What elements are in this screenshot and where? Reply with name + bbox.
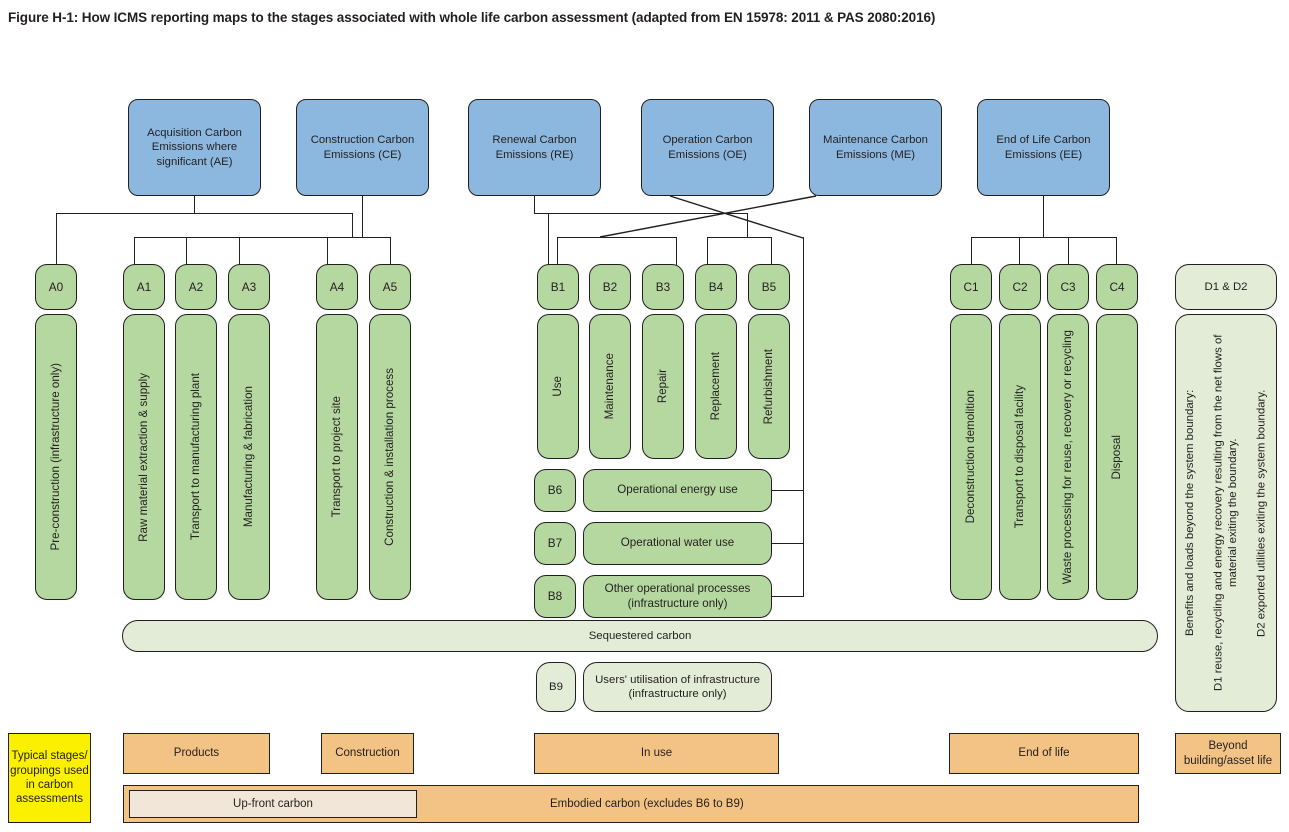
module-desc-b8[interactable]: Other operational processes (infrastruct… bbox=[583, 575, 772, 618]
top-box-me[interactable]: Maintenance Carbon Emissions (ME) bbox=[809, 99, 942, 196]
module-desc-b8-label: Other operational processes (infrastruct… bbox=[605, 582, 751, 611]
module-desc-b7-label: Operational water use bbox=[621, 536, 734, 550]
module-chip-b9-label: B9 bbox=[549, 680, 563, 694]
module-desc-a2-label: Transport to manufacturing plant bbox=[189, 373, 203, 540]
module-desc-c1[interactable]: Deconstruction demolition bbox=[950, 314, 992, 600]
upfront-carbon-label: Up-front carbon bbox=[233, 797, 313, 811]
module-desc-d-label: Benefits and loads beyond the system bou… bbox=[1183, 315, 1269, 711]
module-desc-a4[interactable]: Transport to project site bbox=[316, 314, 358, 600]
module-chip-b8[interactable]: B8 bbox=[534, 575, 576, 618]
module-desc-a1-label: Raw material extraction & supply bbox=[137, 373, 151, 542]
module-desc-c2[interactable]: Transport to disposal facility bbox=[999, 314, 1041, 600]
module-chip-b6[interactable]: B6 bbox=[534, 469, 576, 512]
stage-in-use[interactable]: In use bbox=[534, 733, 779, 774]
connector-to-b2 bbox=[557, 237, 558, 265]
module-desc-a4-label: Transport to project site bbox=[330, 396, 344, 517]
module-chip-a3[interactable]: A3 bbox=[228, 264, 270, 310]
stage-construction-label: Construction bbox=[335, 746, 400, 760]
module-desc-d[interactable]: Benefits and loads beyond the system bou… bbox=[1175, 314, 1277, 712]
top-box-ce-label: Construction Carbon Emissions (CE) bbox=[303, 133, 422, 161]
module-chip-a1-label: A1 bbox=[137, 280, 151, 295]
module-desc-b5-label: Refurbishment bbox=[762, 349, 776, 424]
module-chip-a4[interactable]: A4 bbox=[316, 264, 358, 310]
module-desc-c3[interactable]: Waste processing for reuse, recovery or … bbox=[1047, 314, 1089, 600]
module-chip-c1[interactable]: C1 bbox=[950, 264, 992, 310]
module-desc-b4[interactable]: Replacement bbox=[695, 314, 737, 459]
top-box-ae-label: Acquisition Carbon Emissions where signi… bbox=[135, 126, 254, 168]
connector-to-c1 bbox=[971, 237, 972, 265]
module-desc-c4[interactable]: Disposal bbox=[1096, 314, 1138, 600]
module-chip-b8-label: B8 bbox=[548, 589, 562, 604]
connector-to-a1 bbox=[134, 237, 135, 265]
connector-re-bus-drop bbox=[747, 213, 748, 238]
module-desc-b9[interactable]: Users' utilisation of infrastructure (in… bbox=[583, 662, 772, 712]
figure-canvas: Figure H-1: How ICMS reporting maps to t… bbox=[0, 0, 1289, 832]
module-chip-a0[interactable]: A0 bbox=[35, 264, 77, 310]
module-chip-c1-label: C1 bbox=[963, 280, 978, 295]
module-chip-c4[interactable]: C4 bbox=[1096, 264, 1138, 310]
module-chip-c3-label: C3 bbox=[1060, 280, 1075, 295]
module-desc-a3[interactable]: Manufacturing & fabrication bbox=[228, 314, 270, 600]
stage-end-of-life[interactable]: End of life bbox=[949, 733, 1139, 774]
module-desc-b6-label: Operational energy use bbox=[617, 483, 738, 497]
connector-re-to-b1 bbox=[548, 213, 549, 265]
top-box-ce[interactable]: Construction Carbon Emissions (CE) bbox=[296, 99, 429, 196]
module-chip-b6-label: B6 bbox=[548, 483, 562, 498]
connector-rail-to-b6 bbox=[772, 490, 804, 491]
connector-to-b4 bbox=[707, 237, 708, 265]
top-box-re-label: Renewal Carbon Emissions (RE) bbox=[475, 133, 594, 161]
module-desc-b2-label: Maintenance bbox=[603, 353, 617, 419]
bottom-legend-box: Typical stages/ groupings used in carbon… bbox=[8, 733, 91, 823]
module-chip-c2[interactable]: C2 bbox=[999, 264, 1041, 310]
top-box-oe-label: Operation Carbon Emissions (OE) bbox=[648, 133, 767, 161]
module-desc-a0[interactable]: Pre-construction (infrastructure only) bbox=[35, 314, 77, 600]
module-chip-b5-label: B5 bbox=[762, 280, 776, 295]
module-chip-c3[interactable]: C3 bbox=[1047, 264, 1089, 310]
connector-to-c3 bbox=[1068, 237, 1069, 265]
module-desc-b9-label: Users' utilisation of infrastructure (in… bbox=[595, 673, 760, 702]
upfront-carbon-bar[interactable]: Up-front carbon bbox=[129, 790, 417, 818]
connector-b45-bus bbox=[707, 237, 772, 238]
connector-ae-bus-drop bbox=[352, 213, 353, 238]
stage-beyond-building-life-label: Beyond building/asset life bbox=[1184, 739, 1272, 768]
module-chip-b7[interactable]: B7 bbox=[534, 522, 576, 565]
sequestered-carbon-label: Sequestered carbon bbox=[589, 629, 692, 643]
module-desc-a0-label: Pre-construction (infrastructure only) bbox=[49, 363, 63, 551]
connector-re-trunk bbox=[534, 196, 535, 214]
connector-b23-bus bbox=[557, 237, 677, 238]
module-desc-a5[interactable]: Construction & installation process bbox=[369, 314, 411, 600]
stage-in-use-label: In use bbox=[641, 746, 672, 760]
module-desc-b5[interactable]: Refurbishment bbox=[748, 314, 790, 459]
connector-ae-bus bbox=[56, 213, 353, 214]
module-desc-b7[interactable]: Operational water use bbox=[583, 522, 772, 565]
module-desc-b1-label: Use bbox=[551, 376, 565, 397]
bottom-legend-label: Typical stages/ groupings used in carbon… bbox=[10, 749, 89, 807]
connector-to-a4 bbox=[327, 237, 328, 265]
module-chip-a3-label: A3 bbox=[242, 280, 256, 295]
module-desc-c3-label: Waste processing for reuse, recovery or … bbox=[1061, 330, 1075, 584]
module-chip-b1[interactable]: B1 bbox=[537, 264, 579, 310]
module-desc-c2-label: Transport to disposal facility bbox=[1013, 385, 1027, 528]
embodied-carbon-label: Embodied carbon (excludes B6 to B9) bbox=[550, 797, 744, 811]
module-chip-a2[interactable]: A2 bbox=[175, 264, 217, 310]
module-chip-b3[interactable]: B3 bbox=[642, 264, 684, 310]
sequestered-carbon-bar[interactable]: Sequestered carbon bbox=[122, 620, 1158, 652]
stage-construction[interactable]: Construction bbox=[321, 733, 414, 774]
connector-to-b5 bbox=[771, 237, 772, 265]
module-chip-a4-label: A4 bbox=[330, 280, 344, 295]
module-chip-b4-label: B4 bbox=[709, 280, 723, 295]
module-chip-b5[interactable]: B5 bbox=[748, 264, 790, 310]
connector-to-b3 bbox=[676, 237, 677, 265]
connector-ce-bus bbox=[327, 237, 391, 238]
module-chip-b9[interactable]: B9 bbox=[536, 662, 576, 712]
top-box-oe[interactable]: Operation Carbon Emissions (OE) bbox=[641, 99, 774, 196]
connector-to-c4 bbox=[1116, 237, 1117, 265]
module-chip-c2-label: C2 bbox=[1012, 280, 1027, 295]
module-chip-a5-label: A5 bbox=[383, 280, 397, 295]
module-desc-a2[interactable]: Transport to manufacturing plant bbox=[175, 314, 217, 600]
stage-end-of-life-label: End of life bbox=[1018, 746, 1069, 760]
figure-title: Figure H-1: How ICMS reporting maps to t… bbox=[8, 10, 1278, 25]
module-desc-b2[interactable]: Maintenance bbox=[589, 314, 631, 459]
module-desc-c4-label: Disposal bbox=[1110, 435, 1124, 479]
module-desc-b3[interactable]: Repair bbox=[642, 314, 684, 459]
module-chip-b2[interactable]: B2 bbox=[589, 264, 631, 310]
stage-products[interactable]: Products bbox=[123, 733, 270, 774]
module-chip-d[interactable]: D1 & D2 bbox=[1175, 264, 1277, 310]
top-box-re[interactable]: Renewal Carbon Emissions (RE) bbox=[468, 99, 601, 196]
module-desc-b1[interactable]: Use bbox=[537, 314, 579, 459]
connector-to-a3 bbox=[239, 237, 240, 265]
module-desc-b6[interactable]: Operational energy use bbox=[583, 469, 772, 512]
connector-c-bus bbox=[971, 237, 1117, 238]
module-chip-a5[interactable]: A5 bbox=[369, 264, 411, 310]
connector-to-a2 bbox=[186, 237, 187, 265]
connector-to-c2 bbox=[1019, 237, 1020, 265]
connector-ae-trunk bbox=[194, 196, 195, 214]
top-box-ae[interactable]: Acquisition Carbon Emissions where signi… bbox=[128, 99, 261, 196]
module-desc-b4-label: Replacement bbox=[709, 352, 723, 420]
stage-beyond-building-life[interactable]: Beyond building/asset life bbox=[1175, 733, 1281, 774]
module-chip-b3-label: B3 bbox=[656, 280, 670, 295]
module-desc-a1[interactable]: Raw material extraction & supply bbox=[123, 314, 165, 600]
module-chip-a1[interactable]: A1 bbox=[123, 264, 165, 310]
stage-products-label: Products bbox=[174, 746, 219, 760]
top-box-ee-label: End of Life Carbon Emissions (EE) bbox=[984, 133, 1103, 161]
module-desc-b3-label: Repair bbox=[656, 369, 670, 403]
module-chip-a2-label: A2 bbox=[189, 280, 203, 295]
module-chip-b2-label: B2 bbox=[603, 280, 617, 295]
connector-ee-trunk bbox=[1043, 196, 1044, 238]
connector-rail-to-b8 bbox=[772, 596, 804, 597]
connector-rail-to-b7 bbox=[772, 543, 804, 544]
connector-to-a5 bbox=[390, 237, 391, 265]
module-desc-a3-label: Manufacturing & fabrication bbox=[242, 386, 256, 527]
connector-re-bus bbox=[534, 213, 748, 214]
top-box-ee[interactable]: End of Life Carbon Emissions (EE) bbox=[977, 99, 1110, 196]
connector-ae-to-a0 bbox=[56, 213, 57, 265]
module-desc-c1-label: Deconstruction demolition bbox=[964, 390, 978, 523]
module-chip-b7-label: B7 bbox=[548, 536, 562, 551]
module-chip-c4-label: C4 bbox=[1109, 280, 1124, 295]
module-chip-b4[interactable]: B4 bbox=[695, 264, 737, 310]
top-box-me-label: Maintenance Carbon Emissions (ME) bbox=[816, 133, 935, 161]
module-chip-a0-label: A0 bbox=[49, 280, 63, 295]
module-desc-a5-label: Construction & installation process bbox=[383, 368, 397, 546]
connector-ce-trunk bbox=[362, 196, 363, 238]
module-chip-d-label: D1 & D2 bbox=[1204, 280, 1247, 294]
module-chip-b1-label: B1 bbox=[551, 280, 565, 295]
